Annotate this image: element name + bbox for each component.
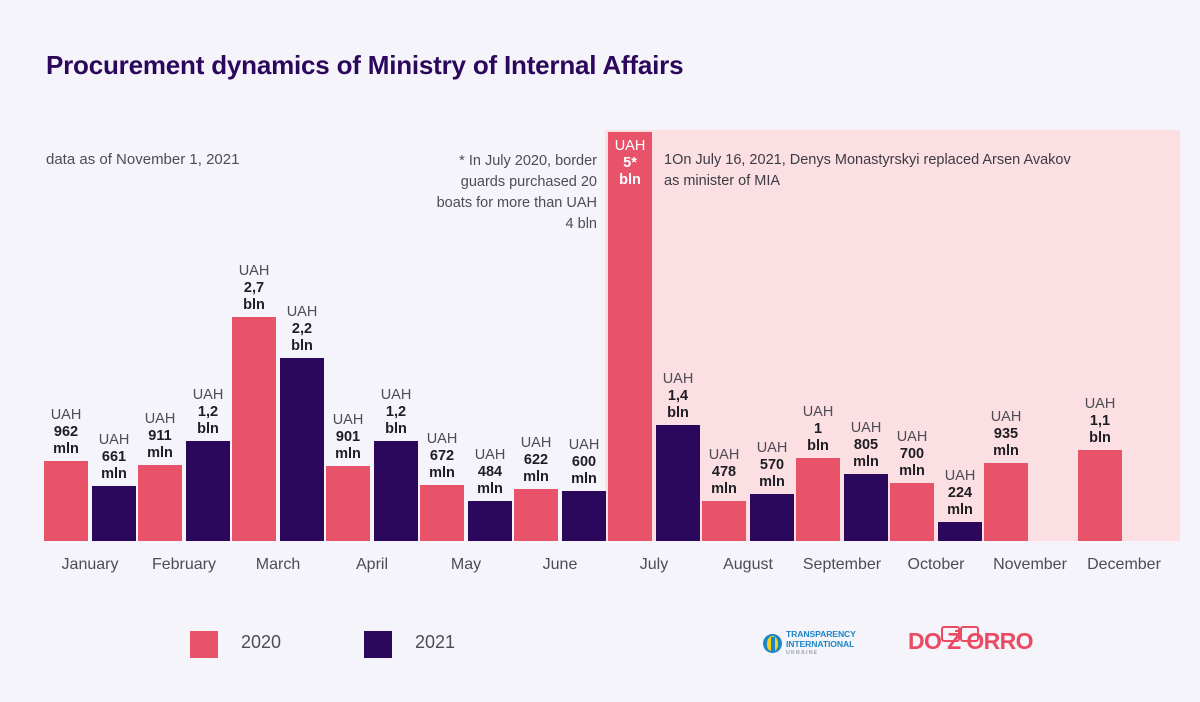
bar-june-2020[interactable]: UAH622mln [514,489,558,541]
bar-february-2021[interactable]: UAH1,2bln [186,441,230,541]
bar-march-2021[interactable]: UAH2,2bln [280,358,324,541]
bar-value-label-june-2021: UAH600mln [555,437,613,491]
ti-line-2: INTERNATIONAL [786,640,856,650]
bar-november-2020[interactable]: UAH935mln [984,463,1028,541]
bar-value-label-november-2020: UAH935mln [977,409,1035,463]
x-label-april: April [356,556,388,574]
bar-group-november: UAH935mln [984,110,1076,541]
dozorro-logo: DO Z ORRO [908,628,1033,655]
x-label-june: June [543,556,578,574]
legend-label-2021: 2021 [415,632,455,653]
x-label-march: March [256,556,300,574]
bar-value-label-october-2021: UAH224mln [931,468,989,522]
bar-value-label-february-2021: UAH1,2bln [179,387,237,441]
bar-october-2020[interactable]: UAH700mln [890,483,934,541]
x-label-february: February [152,556,216,574]
bar-group-june: UAH622mlnUAH600mln [514,110,606,541]
bar-group-february: UAH911mlnUAH1,2bln [138,110,230,541]
bar-september-2020[interactable]: UAH1bln [796,458,840,541]
bar-december-2020[interactable]: UAH1,1bln [1078,450,1122,541]
bar-april-2021[interactable]: UAH1,2bln [374,441,418,541]
x-label-july: July [640,556,668,574]
bar-june-2021[interactable]: UAH600mln [562,491,606,541]
bar-value-label-july-2021: UAH1,4bln [649,371,707,425]
bar-july-2021[interactable]: UAH1,4bln [656,425,700,541]
bar-september-2021[interactable]: UAH805mln [844,474,888,541]
bar-group-july: UAH5*blnUAH1,4bln [608,110,700,541]
bar-august-2020[interactable]: UAH478mln [702,501,746,541]
page-title: Procurement dynamics of Ministry of Inte… [46,50,683,81]
legend-swatch-2020 [190,631,218,658]
binoculars-icon [941,626,979,639]
infographic-page: Procurement dynamics of Ministry of Inte… [0,0,1200,702]
transparency-international-text: TRANSPARENCY INTERNATIONAL [786,630,856,649]
bar-group-october: UAH700mlnUAH224mln [890,110,982,541]
bar-group-january: UAH962mlnUAH661mln [44,110,136,541]
bar-may-2021[interactable]: UAH484mln [468,501,512,541]
bar-group-april: UAH901mlnUAH1,2bln [326,110,418,541]
x-label-may: May [451,556,481,574]
bar-july-2020[interactable]: UAH5*bln [608,132,652,541]
bar-august-2021[interactable]: UAH570mln [750,494,794,541]
bar-may-2020[interactable]: UAH672mln [420,485,464,541]
bar-value-label-july-2020: UAH5*bln [601,138,659,189]
x-label-january: January [62,556,119,574]
x-label-october: October [908,556,965,574]
x-label-december: December [1087,556,1161,574]
bar-group-august: UAH478mlnUAH570mln [702,110,794,541]
bar-april-2020[interactable]: UAH901mln [326,466,370,541]
dozorro-text-before: D [908,628,924,654]
bar-january-2021[interactable]: UAH661mln [92,486,136,541]
bar-group-may: UAH672mlnUAH484mln [420,110,512,541]
legend-label-2020: 2020 [241,632,281,653]
globe-icon [763,634,782,653]
x-label-august: August [723,556,773,574]
bar-october-2021[interactable]: UAH224mln [938,522,982,541]
bar-march-2020[interactable]: UAH2,7bln [232,317,276,541]
bar-value-label-december-2020: UAH1,1bln [1071,396,1129,450]
bar-group-december: UAH1,1bln [1078,110,1170,541]
dozorro-text-after: RRO [984,628,1033,654]
ti-line-3: UKRAINE [786,650,818,656]
bar-january-2020[interactable]: UAH962mln [44,461,88,541]
bar-chart-plot: UAH962mlnUAH661mlnUAH911mlnUAH1,2blnUAH2… [0,110,1200,541]
bar-group-september: UAH1blnUAH805mln [796,110,888,541]
bar-february-2020[interactable]: UAH911mln [138,465,182,541]
x-label-september: September [803,556,881,574]
x-label-november: November [993,556,1067,574]
bar-value-label-march-2021: UAH2,2bln [273,304,331,358]
transparency-international-logo: TRANSPARENCY INTERNATIONAL UKRAINE [763,630,875,658]
x-axis-labels: JanuaryFebruaryMarchAprilMayJuneJulyAugu… [0,556,1200,586]
legend-swatch-2021 [364,631,392,658]
bar-group-march: UAH2,7blnUAH2,2bln [232,110,324,541]
